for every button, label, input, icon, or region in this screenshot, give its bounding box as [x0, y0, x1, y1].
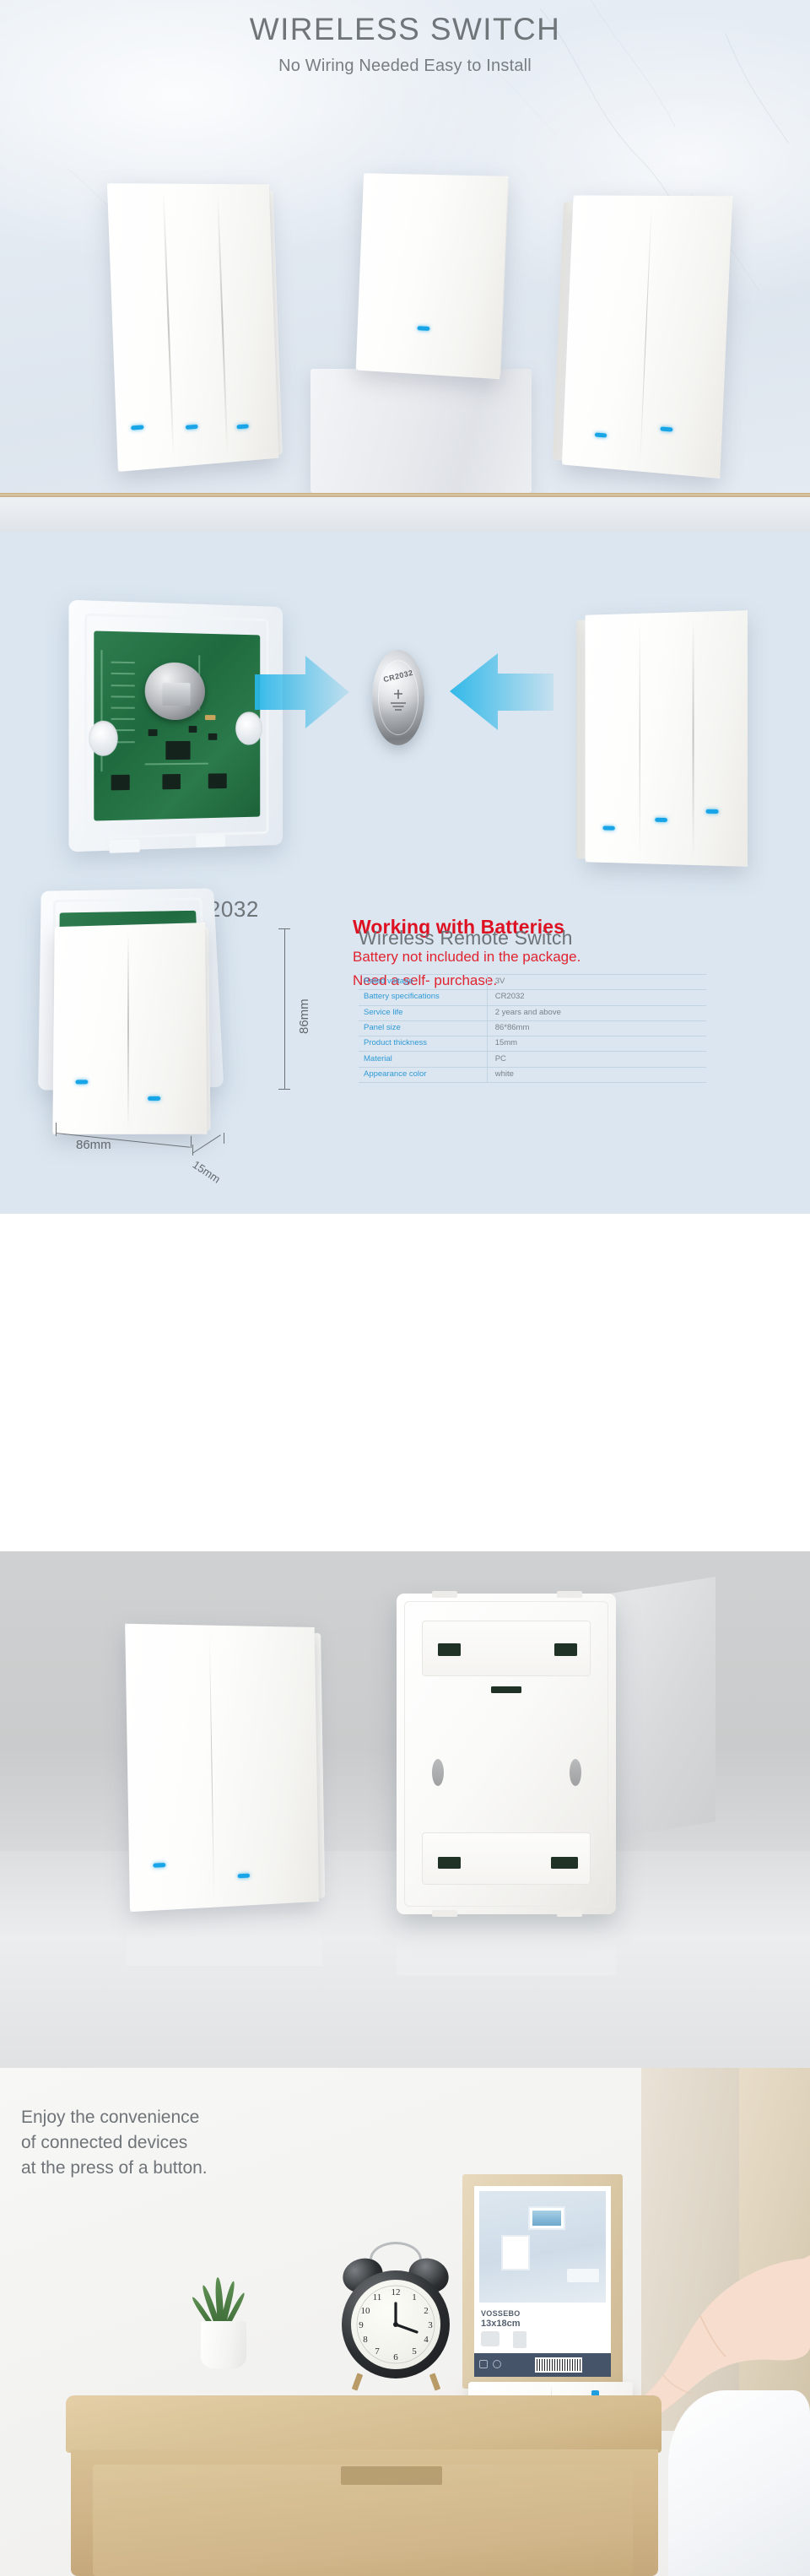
- display-shelf: [0, 493, 810, 532]
- spec-value: 86*86mm: [487, 1020, 706, 1036]
- specifications-table: Rated voltage 3V Battery specifications …: [359, 974, 706, 1083]
- frame-brand-text: VOSSEBO: [481, 2309, 521, 2318]
- svg-text:6: 6: [393, 2352, 398, 2362]
- tactile-button: [162, 774, 181, 789]
- solder-pad: [205, 715, 215, 721]
- grey-two-gang-switch: [125, 1624, 319, 1912]
- svg-text:11: 11: [373, 2292, 382, 2303]
- smd-component: [208, 733, 217, 740]
- spec-key: Appearance color: [359, 1067, 487, 1082]
- frame-icon-line: [481, 2331, 499, 2346]
- switch-face: [562, 195, 732, 479]
- ic-chip: [165, 741, 191, 760]
- spec-key: Material: [359, 1052, 487, 1067]
- page-title: WIRELESS SWITCH: [0, 12, 810, 47]
- recycle-icon: [479, 2360, 488, 2368]
- dimension-label-height: 86mm: [297, 998, 311, 1034]
- model-marking: [551, 1857, 578, 1869]
- spec-value: 3V: [487, 975, 706, 990]
- table-row: Product thickness 15mm: [359, 1036, 706, 1052]
- info-icon: [493, 2360, 501, 2368]
- headline-line-3: at the press of a button.: [21, 2156, 208, 2181]
- mount-slot: [554, 1643, 577, 1656]
- svg-text:2: 2: [424, 2306, 429, 2316]
- led-indicator: [148, 1096, 160, 1101]
- pcb-trace: [111, 673, 135, 674]
- battery-section-switch-panel: [586, 610, 748, 867]
- clock-foot: [429, 2373, 440, 2390]
- hero-two-gang-switch: [562, 195, 732, 479]
- spec-value: 15mm: [487, 1036, 706, 1052]
- arrow-left-icon: [253, 646, 354, 739]
- barcode-stripes: [537, 2359, 580, 2371]
- mounting-tab: [109, 840, 140, 853]
- switch-face: [125, 1624, 319, 1912]
- table-row: Battery specifications CR2032: [359, 990, 706, 1005]
- dimension-tick: [191, 1136, 192, 1148]
- lifestyle-section: Enjoy the convenience of connected devic…: [0, 2068, 810, 2576]
- pcb-trace: [145, 763, 208, 765]
- pcb-trace: [111, 695, 135, 697]
- svg-text:9: 9: [359, 2320, 364, 2330]
- led-indicator: [602, 825, 614, 830]
- led-indicator: [236, 424, 248, 429]
- pcb-trace: [111, 718, 135, 720]
- dimension-label-width: 86mm: [76, 1138, 111, 1152]
- svg-text:10: 10: [361, 2306, 371, 2316]
- battery-clip: [162, 683, 191, 706]
- switch-back-plate: [397, 1594, 616, 1914]
- spec-key: Service life: [359, 1005, 487, 1020]
- battery-notice-line1: Battery not included in the package.: [353, 949, 580, 966]
- switch-reflection: [127, 1907, 322, 1966]
- snap-tab: [432, 1591, 457, 1598]
- svg-text:12: 12: [391, 2287, 401, 2297]
- led-indicator: [655, 818, 667, 822]
- nightstand-top: [66, 2395, 661, 2453]
- spec-value: 2 years and above: [487, 1005, 706, 1020]
- adhesive-pad-bottom: [422, 1832, 591, 1885]
- smd-component: [148, 729, 157, 736]
- spec-table-body: Rated voltage 3V Battery specifications …: [359, 975, 706, 1083]
- led-indicator: [238, 1874, 250, 1879]
- spec-key: Rated voltage: [359, 975, 487, 990]
- dimension-line-height: [284, 928, 285, 1089]
- led-indicator: [706, 809, 719, 814]
- table-row: Appearance color white: [359, 1067, 706, 1082]
- clock-face: 1212 345 678 91011: [351, 2280, 440, 2369]
- switch-face: [52, 923, 207, 1134]
- led-indicator: [417, 326, 429, 331]
- hero-three-gang-switch: [107, 183, 279, 472]
- drawer-handle-cutout: [341, 2466, 442, 2485]
- tactile-button: [111, 775, 129, 790]
- product-photo-section: [0, 1551, 810, 2068]
- snap-tab: [557, 1591, 582, 1598]
- mount-slot: [438, 1643, 461, 1656]
- clock-foot: [352, 2373, 363, 2390]
- hero-one-gang-switch: [356, 173, 509, 379]
- svg-text:3: 3: [428, 2320, 433, 2330]
- led-indicator: [595, 433, 607, 438]
- tactile-button: [208, 774, 226, 789]
- bed-duvet: [668, 2390, 810, 2576]
- spec-key: Battery specifications: [359, 990, 487, 1005]
- hero-section: WIRELESS SWITCH No Wiring Needed Easy to…: [0, 0, 810, 532]
- plate-reflection: [397, 1914, 616, 1975]
- artwork-picture: [528, 2206, 565, 2230]
- mounting-tab: [196, 835, 225, 847]
- table-row: Service life 2 years and above: [359, 1005, 706, 1020]
- plant-pot: [201, 2321, 246, 2368]
- center-slot: [491, 1686, 521, 1693]
- led-indicator: [75, 1080, 88, 1084]
- svg-text:4: 4: [424, 2335, 429, 2345]
- gang-divider: [693, 620, 694, 858]
- spec-value: PC: [487, 1052, 706, 1067]
- pcb-trace: [111, 707, 135, 709]
- table-row: Material PC: [359, 1052, 706, 1067]
- spec-key: Product thickness: [359, 1036, 487, 1052]
- shelf-edge-line: [0, 495, 810, 497]
- svg-text:8: 8: [363, 2335, 368, 2345]
- spec-section-title: Wireless Remote Switch: [359, 927, 573, 950]
- artwork-inner: [532, 2211, 561, 2226]
- pcb-trace: [111, 662, 135, 664]
- svg-text:1: 1: [412, 2292, 417, 2303]
- mount-slot: [438, 1857, 461, 1869]
- screw-hole: [89, 721, 118, 756]
- led-indicator: [660, 426, 672, 431]
- potted-plant: [187, 2276, 263, 2377]
- screw-slot: [432, 1759, 444, 1786]
- svg-text:7: 7: [375, 2346, 380, 2357]
- svg-text:5: 5: [412, 2346, 417, 2357]
- artwork-frame-small: [501, 2235, 530, 2270]
- dimension-tick: [56, 1123, 57, 1136]
- smd-component: [189, 726, 197, 733]
- display-pedestal: [310, 369, 532, 493]
- table-row: Rated voltage 3V: [359, 975, 706, 990]
- table-row: Panel size 86*86mm: [359, 1020, 706, 1036]
- frame-barcode: [535, 2357, 582, 2373]
- spec-key: Panel size: [359, 1020, 487, 1036]
- gang-divider: [639, 621, 640, 857]
- page-subtitle: No Wiring Needed Easy to Install: [0, 57, 810, 76]
- pcb-exploded-view: [69, 600, 283, 852]
- headline-line-1: Enjoy the convenience: [21, 2105, 208, 2130]
- arrow-right-icon: [445, 643, 555, 740]
- battery-polarity-icon: [387, 687, 409, 712]
- switch-face: [356, 173, 509, 379]
- headline-line-2: of connected devices: [21, 2130, 208, 2156]
- frame-icon-line: [513, 2331, 526, 2348]
- dimension-tick: [278, 1089, 290, 1090]
- battery-section: CR2032 CR2032: [0, 532, 810, 1214]
- adhesive-pad-top: [422, 1621, 591, 1676]
- frame-size-text: 13x18cm: [481, 2319, 521, 2329]
- product-page: WIRELESS SWITCH No Wiring Needed Easy to…: [0, 0, 810, 2576]
- coin-cell-battery: CR2032: [372, 650, 424, 745]
- alarm-clock: 1212 345 678 91011: [334, 2242, 457, 2394]
- lifestyle-headline: Enjoy the convenience of connected devic…: [21, 2105, 208, 2180]
- dimension-tick: [224, 1133, 224, 1144]
- pcb-trace: [111, 685, 135, 686]
- dimension-label-depth: 15mm: [191, 1158, 223, 1186]
- gang-divider: [127, 931, 129, 1128]
- dimension-line-depth: [192, 1134, 221, 1154]
- clock-dial: 1212 345 678 91011: [351, 2280, 440, 2369]
- led-indicator: [153, 1863, 165, 1868]
- led-indicator: [186, 425, 198, 430]
- led-indicator: [131, 425, 143, 430]
- spec-switch: [52, 923, 207, 1134]
- spec-value: CR2032: [487, 990, 706, 1005]
- screw-slot: [570, 1759, 581, 1786]
- spec-value: white: [487, 1067, 706, 1082]
